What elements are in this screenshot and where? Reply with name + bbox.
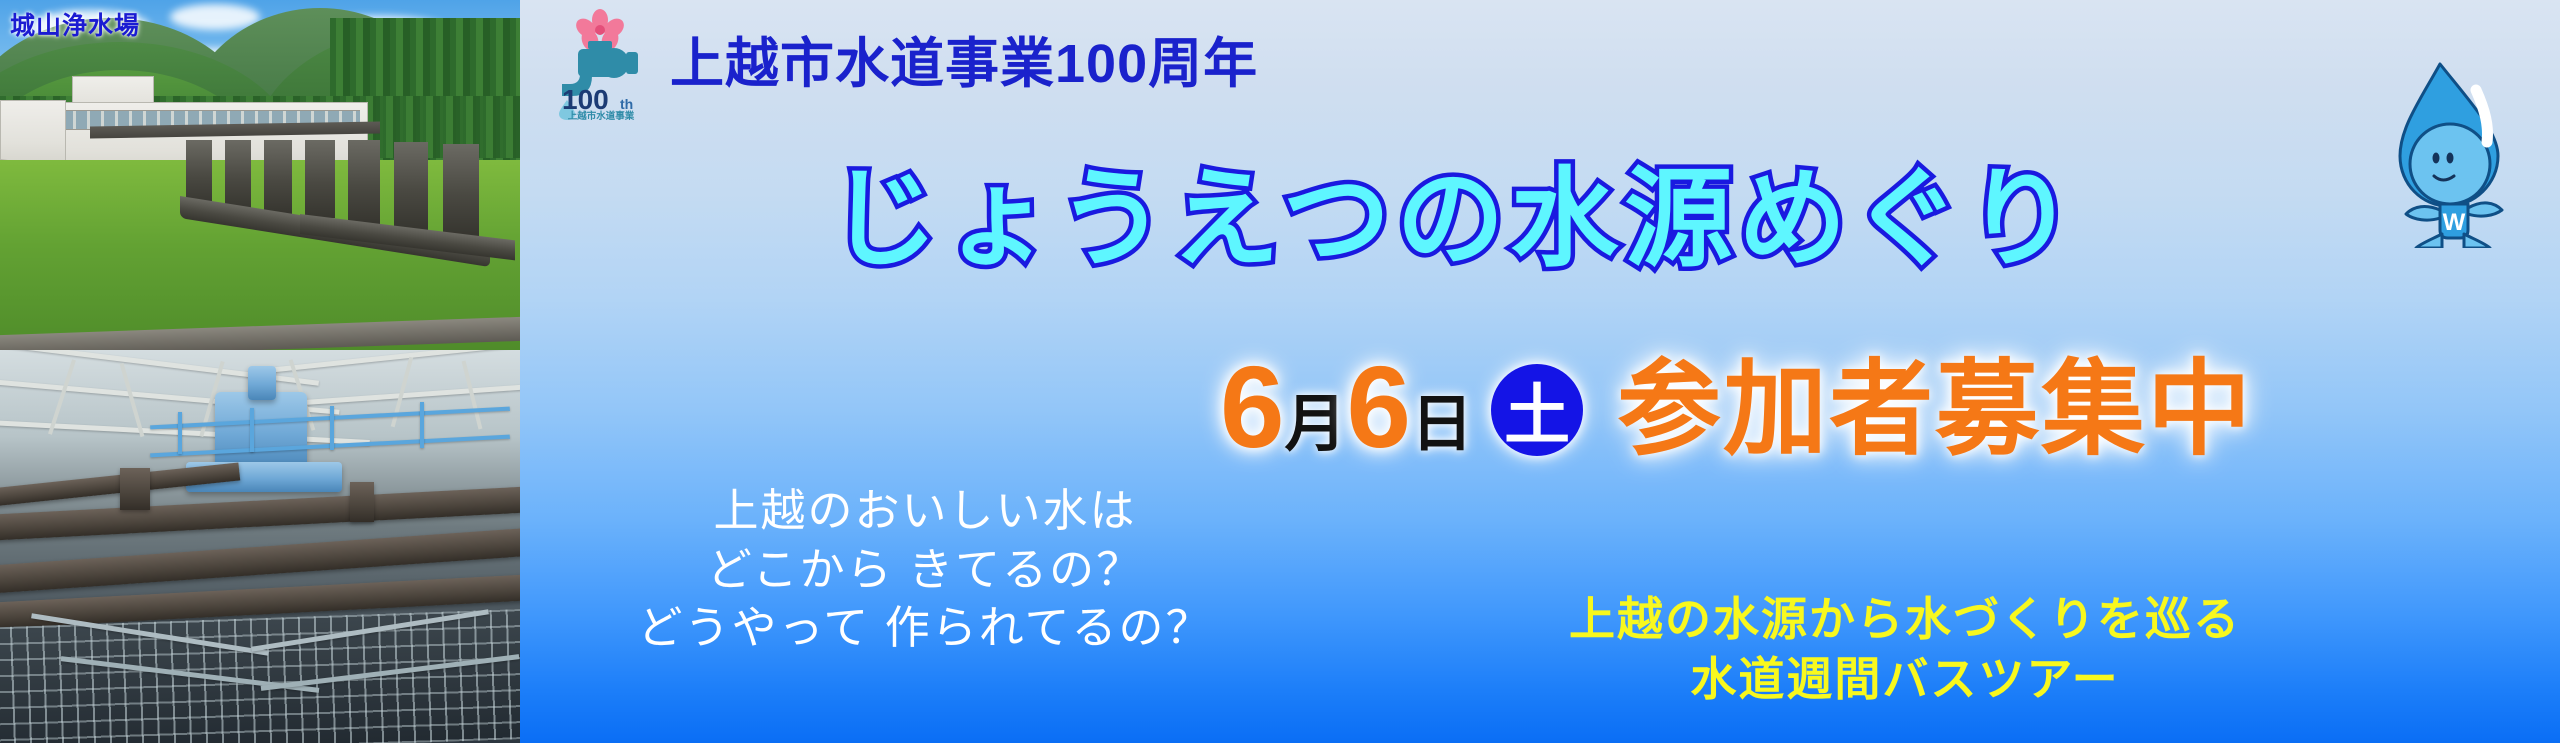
mixer-shaft bbox=[248, 366, 276, 400]
event-date-row: 6 月 6 日 土 参加者募集中 bbox=[1220, 352, 2253, 462]
tour-description: 上越の水源から水づくりを巡る 水道週間バスツアー bbox=[1340, 590, 2470, 710]
photo-label-shiroyama: 城山浄水場 bbox=[10, 6, 140, 42]
mascot-body-letter: W bbox=[2443, 209, 2466, 236]
photo-column: 城山浄水場 bbox=[0, 0, 520, 743]
handrail-post bbox=[420, 402, 424, 448]
recruiting-label: 参加者募集中 bbox=[1617, 358, 2253, 462]
photo-sedimentation-basin: W bbox=[0, 350, 520, 743]
weir-pier bbox=[394, 142, 428, 230]
tour-line-2: 水道週間バスツアー bbox=[1340, 650, 2470, 710]
header-row: 100 th 上越市水道事業 上越市水道事業100周年 bbox=[548, 8, 1258, 120]
event-month-number: 6 bbox=[1220, 352, 1285, 462]
beam-support bbox=[350, 482, 374, 522]
tour-line-1: 上越の水源から水づくりを巡る bbox=[1340, 590, 2470, 650]
day-of-week-badge: 土 bbox=[1491, 364, 1583, 456]
logo-suffix: th bbox=[620, 96, 633, 112]
weir-pier bbox=[264, 140, 292, 214]
weir-pier bbox=[348, 140, 380, 224]
water-drop-mascot: W bbox=[2388, 58, 2512, 248]
weir-pier bbox=[305, 140, 335, 218]
logo-subtext: 上越市水道事業 bbox=[568, 110, 635, 120]
question-line-1: 上越のおいしい水は bbox=[530, 482, 1320, 541]
question-line-3: どうやって 作られてるの？ bbox=[530, 599, 1320, 658]
question-block: 上越のおいしい水は どこから きてるの？ どうやって 作られてるの？ bbox=[530, 482, 1320, 658]
content-area: 100 th 上越市水道事業 上越市水道事業100周年 じょうえつの水源めぐり bbox=[520, 0, 2560, 743]
beam-support bbox=[120, 468, 150, 510]
event-banner: 城山浄水場 bbox=[0, 0, 2560, 743]
handrail-post bbox=[250, 408, 254, 452]
photo-water-plant: 城山浄水場 bbox=[0, 0, 520, 350]
handrail-post bbox=[330, 406, 334, 450]
basin-grating bbox=[0, 608, 520, 743]
anniversary-logo-icon: 100 th 上越市水道事業 bbox=[548, 8, 654, 120]
weir-pier bbox=[443, 144, 479, 236]
question-line-2: どこから きてるの？ bbox=[530, 541, 1320, 600]
handrail-post bbox=[178, 412, 182, 454]
event-month-unit: 月 bbox=[1285, 394, 1347, 456]
event-day-number: 6 bbox=[1347, 352, 1412, 462]
weir-pier bbox=[225, 140, 251, 210]
page-title: じょうえつの水源めぐり bbox=[520, 165, 2560, 273]
mixer-drive-unit bbox=[215, 392, 307, 470]
anniversary-title: 上越市水道事業100周年 bbox=[670, 37, 1258, 91]
weir-pier bbox=[186, 140, 212, 206]
event-day-unit: 日 bbox=[1411, 394, 1473, 456]
